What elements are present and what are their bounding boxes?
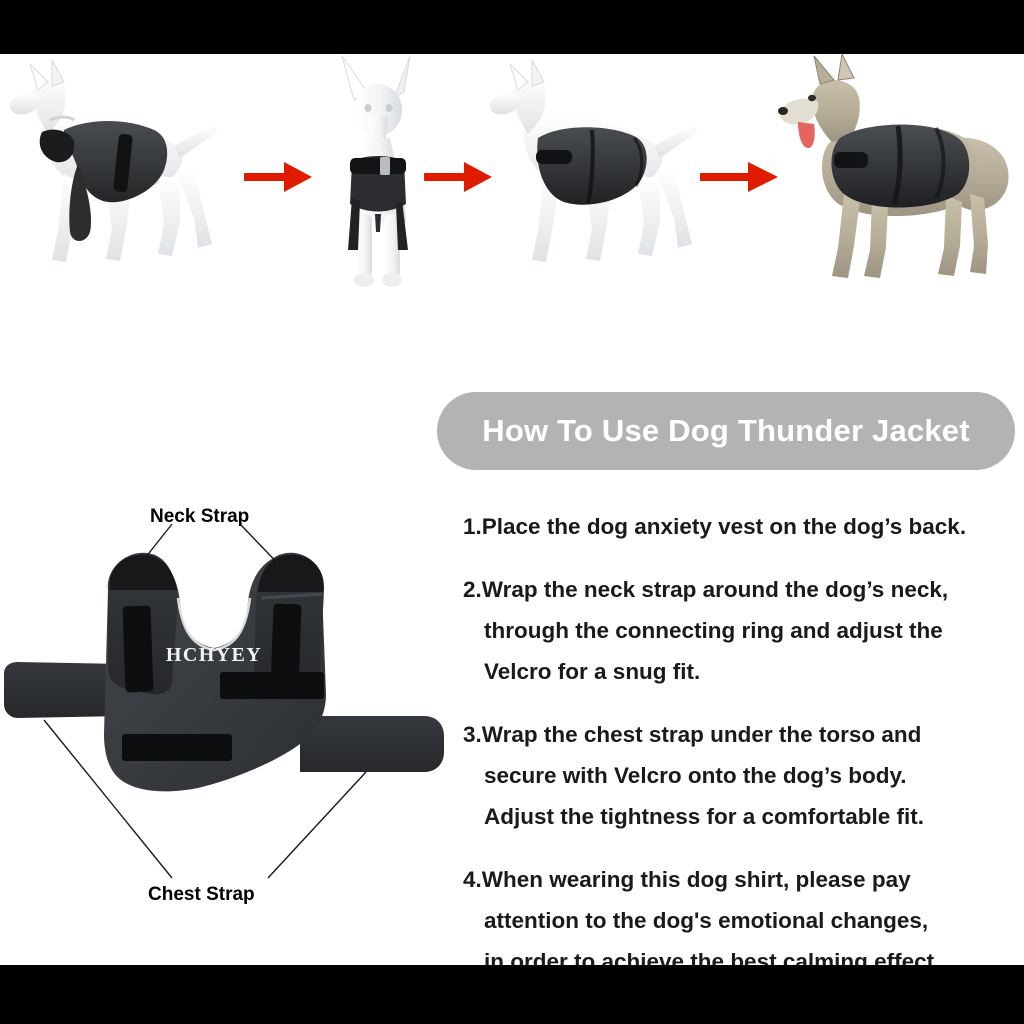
product-instruction-image: How To Use Dog Thunder Jacket 1.Place th… <box>0 0 1024 1024</box>
vest-flatlay-illustration: HCHYEY <box>0 494 450 924</box>
step-2-line-2: through the connecting ring and adjust t… <box>463 610 1023 651</box>
husky-wearing-vest <box>768 54 1018 294</box>
step-3-line-1: 3.Wrap the chest strap under the torso a… <box>463 714 1023 755</box>
vest-diagram: Neck Strap Chest Strap <box>0 494 450 924</box>
letterbox-top <box>0 0 1024 54</box>
photo-strip <box>0 54 1024 294</box>
instruction-step-2: 2.Wrap the neck strap around the dog’s n… <box>463 569 1023 692</box>
step-3-line-3: Adjust the tightness for a comfortable f… <box>463 796 1023 837</box>
photo-panel-neck-strap-wrapped <box>318 54 438 294</box>
step-2-line-3: Velcro for a snug fit. <box>463 651 1023 692</box>
mannequin-dog-side-vest-on-back <box>8 54 238 294</box>
step-1-line-1: 1.Place the dog anxiety vest on the dog’… <box>463 506 1023 547</box>
white-canvas: How To Use Dog Thunder Jacket 1.Place th… <box>0 54 1024 965</box>
mannequin-dog-side-chest-strap <box>488 54 718 294</box>
arrow-step-1-to-2 <box>244 162 312 192</box>
photo-panel-vest-placed-on-back <box>8 54 238 294</box>
step-2-line-1: 2.Wrap the neck strap around the dog’s n… <box>463 569 1023 610</box>
label-chest-strap: Chest Strap <box>148 884 255 906</box>
mannequin-dog-front-neck-strap <box>318 54 438 294</box>
title-banner: How To Use Dog Thunder Jacket <box>437 392 1015 470</box>
photo-panel-real-dog-wearing-vest <box>768 54 1018 294</box>
banner-title: How To Use Dog Thunder Jacket <box>482 413 970 449</box>
label-neck-strap: Neck Strap <box>150 506 249 528</box>
step-4-line-2: attention to the dog's emotional changes… <box>463 900 1023 941</box>
letterbox-bottom <box>0 965 1024 1024</box>
step-4-line-1: 4.When wearing this dog shirt, please pa… <box>463 859 1023 900</box>
instruction-step-1: 1.Place the dog anxiety vest on the dog’… <box>463 506 1023 547</box>
arrow-step-2-to-3 <box>424 162 492 192</box>
vest-brand-text: HCHYEY <box>166 644 262 666</box>
instruction-step-4: 4.When wearing this dog shirt, please pa… <box>463 859 1023 982</box>
step-3-line-2: secure with Velcro onto the dog’s body. <box>463 755 1023 796</box>
instruction-step-3: 3.Wrap the chest strap under the torso a… <box>463 714 1023 837</box>
instruction-list: 1.Place the dog anxiety vest on the dog’… <box>463 506 1023 1004</box>
leader-chest-strap-right <box>268 772 366 878</box>
photo-panel-chest-strap-secured <box>488 54 718 294</box>
